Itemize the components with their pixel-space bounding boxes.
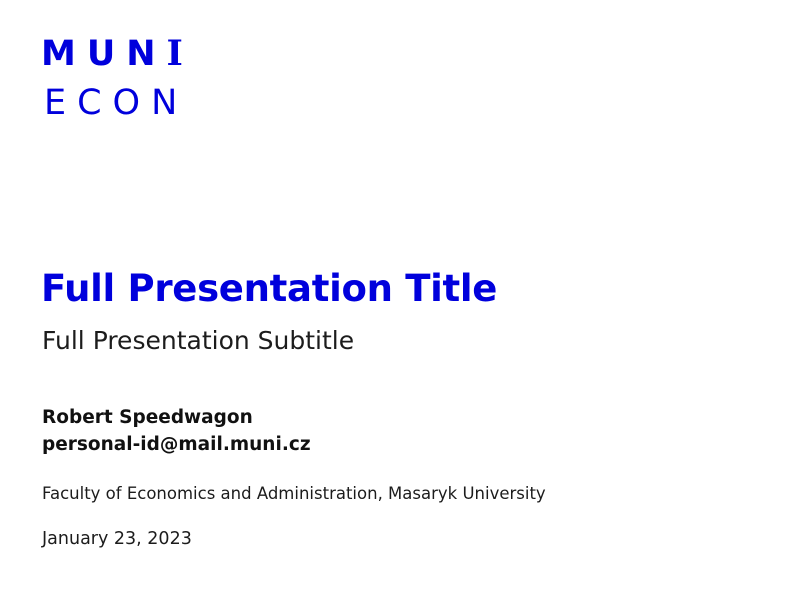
muni-econ-logo: MUNI ECON [41, 36, 194, 121]
author-email: personal-id@mail.muni.cz [42, 432, 311, 459]
logo-line-muni: MUNI [41, 36, 194, 72]
logo-text-mun: MUN [41, 34, 167, 74]
logo-serif-i: I [167, 33, 194, 74]
affiliation-text: Faculty of Economics and Administration,… [42, 483, 546, 504]
title-slide: MUNI ECON Full Presentation Title Full P… [0, 0, 794, 596]
author-name: Robert Speedwagon [42, 405, 311, 432]
presentation-date: January 23, 2023 [42, 528, 192, 551]
logo-line-econ: ECON [41, 86, 194, 121]
page-subtitle: Full Presentation Subtitle [42, 326, 354, 356]
author-block: Robert Speedwagon personal-id@mail.muni.… [42, 405, 311, 459]
page-title: Full Presentation Title [41, 268, 497, 311]
